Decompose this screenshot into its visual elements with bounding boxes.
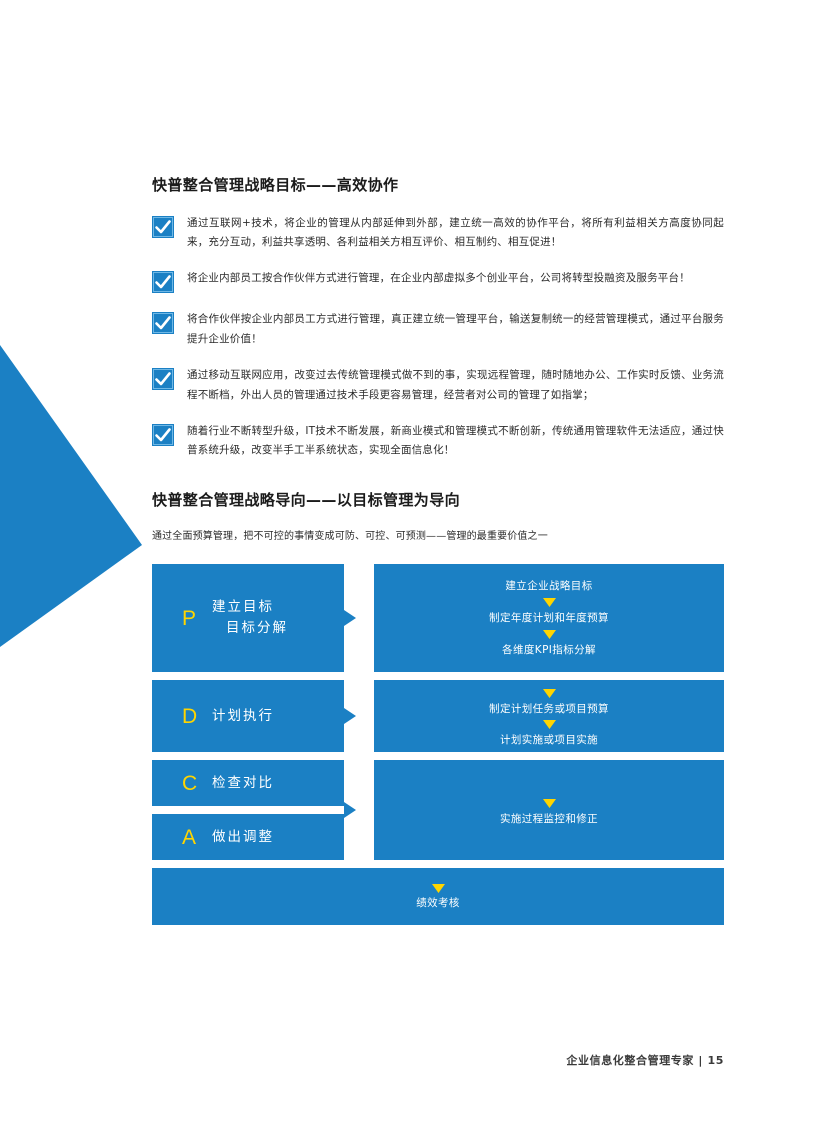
arrow-down-icon (432, 884, 445, 893)
pdca-letter-p: P (182, 607, 212, 630)
pdca-label-establish-goal: 建立目标 (212, 597, 288, 618)
pdca-step: 制定年度计划和年度预算 (489, 611, 609, 626)
chevron-right-icon (344, 760, 374, 860)
chevron-right-icon (344, 680, 374, 752)
page-content: 快普整合管理战略目标——高效协作 通过互联网+技术，将企业的管理从内部延伸到外部… (152, 176, 724, 925)
pdca-diagram: P 建立目标 目标分解 建 (152, 564, 724, 925)
list-item-text: 将合作伙伴按企业内部员工方式进行管理，真正建立统一管理平台，输送复制统一的经营管… (187, 310, 724, 349)
pdca-steps-do: 制定计划任务或项目预算 计划实施或项目实施 (374, 680, 724, 752)
list-item-text: 通过移动互联网应用，改变过去传统管理模式做不到的事，实现远程管理，随时随地办公、… (187, 366, 724, 405)
strategy-goals-list: 通过互联网+技术，将企业的管理从内部延伸到外部，建立统一高效的协作平台，将所有利… (152, 214, 724, 461)
pdca-letter-d: D (182, 705, 212, 728)
section-two-title: 快普整合管理战略导向——以目标管理为导向 (152, 491, 724, 511)
pdca-letter-c: C (182, 772, 212, 795)
list-item: 随着行业不断转型升级，IT技术不断发展，新商业模式和管理模式不断创新，传统通用管… (152, 422, 724, 461)
list-item: 将企业内部员工按合作伙伴方式进行管理，在企业内部虚拟多个创业平台，公司将转型投融… (152, 269, 724, 293)
arrow-down-icon (543, 799, 556, 808)
list-item-text: 随着行业不断转型升级，IT技术不断发展，新商业模式和管理模式不断创新，传统通用管… (187, 422, 724, 461)
pdca-label-plan-execution: 计划执行 (212, 706, 274, 727)
pdca-steps-check-act: 实施过程监控和修正 (374, 760, 724, 860)
checkbox-checked-icon (152, 271, 174, 293)
checkbox-checked-icon (152, 312, 174, 334)
pdca-stage-check: C 检查对比 (152, 760, 344, 806)
arrow-down-icon (543, 630, 556, 639)
section-two-lead: 通过全面预算管理，把不可控的事情变成可防、可控、可预测——管理的最重要价值之一 (152, 528, 724, 546)
section-two: 快普整合管理战略导向——以目标管理为导向 通过全面预算管理，把不可控的事情变成可… (152, 491, 724, 926)
pdca-label-goal-breakdown: 目标分解 (226, 618, 288, 639)
pdca-label-check-compare: 检查对比 (212, 773, 274, 794)
list-item: 通过互联网+技术，将企业的管理从内部延伸到外部，建立统一高效的协作平台，将所有利… (152, 214, 724, 253)
arrow-down-icon (543, 689, 556, 698)
pdca-row-do: D 计划执行 (152, 680, 724, 752)
pdca-step-performance-review: 绩效考核 (416, 896, 460, 911)
pdca-label-make-adjustment: 做出调整 (212, 827, 274, 848)
list-item: 通过移动互联网应用，改变过去传统管理模式做不到的事，实现远程管理，随时随地办公、… (152, 366, 724, 405)
pdca-letter-a: A (182, 826, 212, 849)
chevron-right-icon (344, 564, 374, 672)
pdca-stage-act: A 做出调整 (152, 814, 344, 860)
checkbox-checked-icon (152, 424, 174, 446)
decorative-triangle (0, 345, 142, 647)
section-one-title: 快普整合管理战略目标——高效协作 (152, 176, 724, 196)
pdca-stage-group-check-act: C 检查对比 A 做出调整 (152, 760, 344, 860)
checkbox-checked-icon (152, 216, 174, 238)
checkbox-checked-icon (152, 368, 174, 390)
document-page: 快普整合管理战略目标——高效协作 通过互联网+技术，将企业的管理从内部延伸到外部… (0, 0, 840, 1146)
pdca-steps-plan: 建立企业战略目标 制定年度计划和年度预算 各维度KPI指标分解 (374, 564, 724, 672)
pdca-stage-plan: P 建立目标 目标分解 (152, 564, 344, 672)
pdca-row-plan: P 建立目标 目标分解 建 (152, 564, 724, 672)
pdca-step: 计划实施或项目实施 (500, 733, 598, 748)
pdca-step: 实施过程监控和修正 (500, 812, 598, 827)
arrow-down-icon (543, 720, 556, 729)
pdca-bottom-bar: 绩效考核 (152, 868, 724, 925)
page-footer: 企业信息化整合管理专家 | 15 (566, 1052, 724, 1068)
pdca-step: 建立企业战略目标 (505, 579, 592, 594)
list-item-text: 将企业内部员工按合作伙伴方式进行管理，在企业内部虚拟多个创业平台，公司将转型投融… (187, 269, 690, 288)
pdca-step: 各维度KPI指标分解 (502, 643, 596, 658)
pdca-stage-do: D 计划执行 (152, 680, 344, 752)
arrow-down-icon (543, 598, 556, 607)
list-item-text: 通过互联网+技术，将企业的管理从内部延伸到外部，建立统一高效的协作平台，将所有利… (187, 214, 724, 253)
pdca-step: 制定计划任务或项目预算 (489, 702, 609, 717)
list-item: 将合作伙伴按企业内部员工方式进行管理，真正建立统一管理平台，输送复制统一的经营管… (152, 310, 724, 349)
pdca-row-check-act: C 检查对比 A 做出调整 (152, 760, 724, 860)
